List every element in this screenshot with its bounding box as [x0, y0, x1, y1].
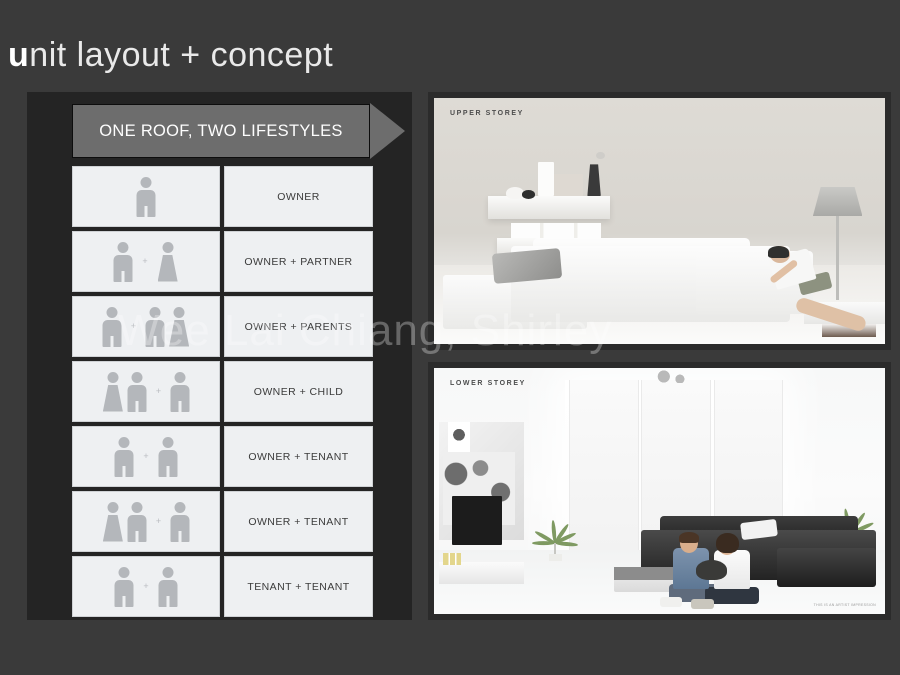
dark-vase-decor	[587, 164, 601, 196]
figure-group	[112, 242, 134, 282]
person-male-icon	[113, 437, 135, 477]
figure-group	[135, 177, 157, 217]
blind-panel	[569, 380, 639, 577]
person-male-icon	[126, 372, 148, 412]
figure-group	[101, 307, 123, 347]
row-icons: +	[72, 231, 220, 292]
person-male-icon	[135, 177, 157, 217]
man-hair	[679, 532, 699, 543]
person-male-icon	[113, 567, 135, 607]
person-female-icon	[156, 242, 180, 282]
woman-hair	[768, 246, 790, 258]
row-label: OWNER + TENANT	[224, 491, 373, 552]
figure-group	[169, 502, 191, 542]
row-icons: +	[72, 296, 220, 357]
table-row: OWNER	[72, 166, 373, 227]
table-ring-decor	[614, 567, 682, 579]
row-icons: +	[72, 491, 220, 552]
plus-separator: +	[151, 517, 166, 526]
figure-group	[144, 307, 191, 347]
plus-separator: +	[151, 387, 166, 396]
wall-art	[448, 422, 471, 454]
person-male-icon	[144, 307, 166, 347]
row-label: OWNER + PARTNER	[224, 231, 373, 292]
shelf-objects	[511, 223, 601, 238]
tv-console	[439, 562, 525, 584]
person-male-icon	[169, 372, 191, 412]
person-female-icon	[101, 372, 125, 412]
figure-group	[157, 567, 179, 607]
grey-cushion	[491, 248, 561, 283]
figure-group	[156, 242, 180, 282]
upper-storey-image: UPPER STOREY	[434, 98, 885, 344]
person-male-icon	[126, 502, 148, 542]
row-icons: +	[72, 426, 220, 487]
palm-plant	[533, 491, 578, 560]
plus-separator: +	[137, 257, 152, 266]
table-row: + OWNER + PARENTS	[72, 296, 373, 357]
small-lamp-decor	[596, 152, 605, 159]
lifestyle-matrix-panel: ONE ROOF, TWO LIFESTYLES OWNER +	[27, 92, 412, 620]
dark-sofa-chaise	[777, 548, 876, 587]
row-label: TENANT + TENANT	[224, 556, 373, 617]
person-male-icon	[112, 242, 134, 282]
row-icons: +	[72, 556, 220, 617]
wall-shelf	[488, 196, 610, 218]
person-female-icon	[101, 502, 125, 542]
row-icons	[72, 166, 220, 227]
shoe	[691, 599, 714, 609]
upper-storey-photo: UPPER STOREY	[428, 92, 891, 350]
floor-lamp-pole	[836, 216, 839, 300]
plus-separator: +	[138, 582, 153, 591]
table-row: + OWNER + PARTNER	[72, 231, 373, 292]
person-male-icon	[157, 567, 179, 607]
table-row: + OWNER + TENANT	[72, 491, 373, 552]
banner-label: ONE ROOF, TWO LIFESTYLES	[99, 122, 342, 141]
floor-lamp-shade	[813, 187, 863, 217]
lower-storey-photo: LOWER STOREY	[428, 362, 891, 620]
image-credit: THIS IS AN ARTIST IMPRESSION	[814, 603, 876, 607]
white-box-decor	[538, 162, 554, 196]
table-row: + TENANT + TENANT	[72, 556, 373, 617]
page-title: unit layout + concept	[8, 36, 333, 75]
person-male-icon	[169, 502, 191, 542]
row-label: OWNER + PARENTS	[224, 296, 373, 357]
ceiling-light	[650, 370, 695, 382]
shoe	[660, 597, 683, 607]
title-text: nit layout + concept	[29, 36, 333, 74]
figure-group	[101, 502, 148, 542]
books-decor	[551, 174, 583, 196]
person-male-icon	[101, 307, 123, 347]
row-label: OWNER + CHILD	[224, 361, 373, 422]
lifestyle-matrix: OWNER + OWNER + PARTNER +	[72, 166, 373, 617]
upper-storey-label: UPPER STOREY	[450, 110, 524, 117]
row-label: OWNER	[224, 166, 373, 227]
plus-separator: +	[126, 322, 141, 331]
row-label: OWNER + TENANT	[224, 426, 373, 487]
table-row: + OWNER + CHILD	[72, 361, 373, 422]
table-row: + OWNER + TENANT	[72, 426, 373, 487]
figure-group	[113, 437, 135, 477]
banner: ONE ROOF, TWO LIFESTYLES	[72, 104, 405, 158]
row-icons: +	[72, 361, 220, 422]
figure-group	[113, 567, 135, 607]
dog	[696, 560, 728, 580]
figure-group	[157, 437, 179, 477]
banner-body: ONE ROOF, TWO LIFESTYLES	[72, 104, 370, 158]
arrow-right-icon	[370, 103, 405, 159]
person-male-icon	[157, 437, 179, 477]
lower-storey-label: LOWER STOREY	[450, 380, 526, 387]
figure-group	[101, 372, 148, 412]
lower-storey-image: LOWER STOREY	[434, 368, 885, 614]
figure-group	[169, 372, 191, 412]
title-accent-letter: u	[8, 36, 29, 74]
plus-separator: +	[138, 452, 153, 461]
candles-decor	[443, 553, 461, 565]
stone-decor	[522, 190, 536, 199]
person-female-icon	[167, 307, 191, 347]
television	[452, 496, 502, 545]
woman-hair	[716, 533, 739, 553]
